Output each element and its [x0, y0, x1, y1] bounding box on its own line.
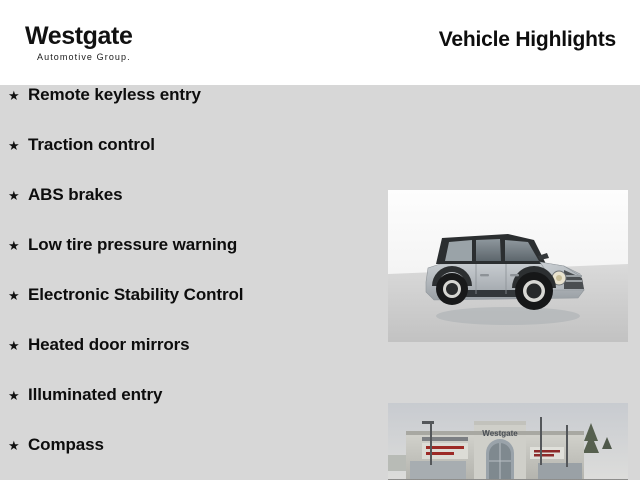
- vehicle-feature-list: ★ Remote keyless entry ★ Traction contro…: [0, 85, 380, 480]
- building-sign-text: Westgate: [482, 429, 518, 438]
- feature-label: Compass: [28, 435, 104, 455]
- westgate-logo: Westgate Automotive Group.: [25, 24, 132, 62]
- list-item: ★ Remote keyless entry: [0, 85, 380, 135]
- feature-label: Low tire pressure warning: [28, 235, 237, 255]
- list-item: ★ Electronic Stability Control: [0, 285, 380, 335]
- feature-label: ABS brakes: [28, 185, 122, 205]
- logo-subtitle: Automotive Group.: [37, 53, 132, 62]
- dealership-photo: Westgate: [388, 403, 628, 480]
- logo-name: Westgate: [25, 24, 132, 49]
- list-item: ★ Compass: [0, 435, 380, 480]
- star-bullet-icon: ★: [8, 439, 28, 452]
- list-item: ★ Heated door mirrors: [0, 335, 380, 385]
- list-item: ★ Illuminated entry: [0, 385, 380, 435]
- slide-header: Westgate Automotive Group. Vehicle Highl…: [0, 0, 640, 85]
- star-bullet-icon: ★: [8, 239, 28, 252]
- feature-label: Remote keyless entry: [28, 85, 201, 105]
- vehicle-highlights-slide: Westgate Automotive Group. Vehicle Highl…: [0, 0, 640, 480]
- star-bullet-icon: ★: [8, 89, 28, 102]
- star-bullet-icon: ★: [8, 339, 28, 352]
- star-bullet-icon: ★: [8, 389, 28, 402]
- dealership-photo-graphic: Westgate: [388, 403, 628, 480]
- feature-label: Heated door mirrors: [28, 335, 190, 355]
- star-bullet-icon: ★: [8, 189, 28, 202]
- list-item: ★ Traction control: [0, 135, 380, 185]
- list-item: ★ ABS brakes: [0, 185, 380, 235]
- feature-label: Traction control: [28, 135, 155, 155]
- page-title: Vehicle Highlights: [439, 28, 616, 52]
- feature-label: Illuminated entry: [28, 385, 162, 405]
- vehicle-photo: [388, 190, 628, 342]
- vehicle-photo-graphic: [388, 190, 628, 342]
- slide-body: ★ Remote keyless entry ★ Traction contro…: [0, 85, 640, 480]
- star-bullet-icon: ★: [8, 289, 28, 302]
- star-bullet-icon: ★: [8, 139, 28, 152]
- feature-label: Electronic Stability Control: [28, 285, 243, 305]
- list-item: ★ Low tire pressure warning: [0, 235, 380, 285]
